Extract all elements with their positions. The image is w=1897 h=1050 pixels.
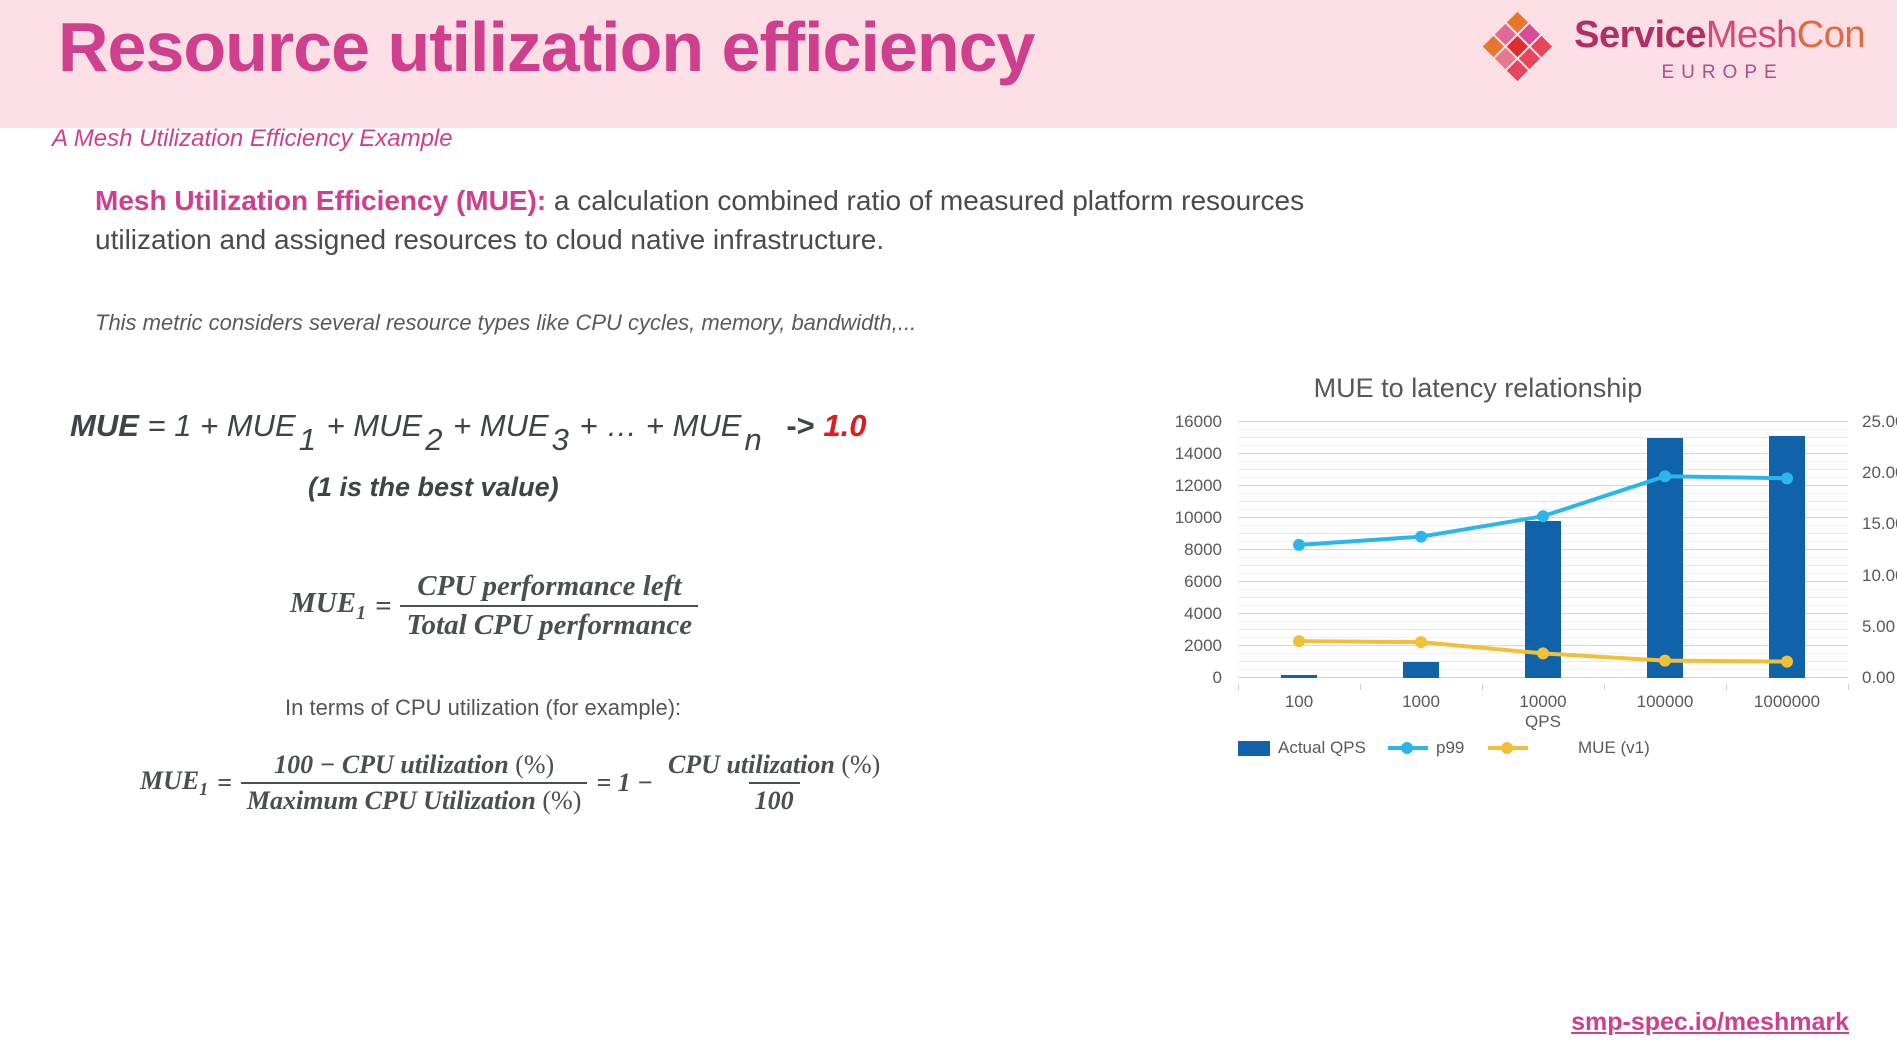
legend-line-swatch — [1388, 746, 1428, 750]
mue-sum-t4: + … + MUE — [580, 408, 742, 443]
slide-subtitle: A Mesh Utilization Efficiency Example — [52, 125, 453, 153]
mue-latency-chart: MUE to latency relationship 020004000600… — [1128, 366, 1888, 946]
f2-fraction-1: 100 − CPU utilization (%) Maximum CPU Ut… — [241, 750, 587, 816]
chart-legend-item[interactable]: MUE (v1) — [1488, 738, 1650, 758]
chart-legend-item[interactable]: p99 — [1388, 738, 1464, 758]
chart-x-tick: 1000000 — [1754, 692, 1820, 712]
mue-sum-eq: = 1 + MUE — [148, 408, 296, 443]
chart-y-axis-right: 0.005.0010.0015.0020.0025.00 — [1852, 422, 1897, 678]
chart-point[interactable] — [1781, 656, 1793, 668]
f2-numerator-1-unit: (%) — [515, 750, 554, 779]
chart-x-tick: 10000 — [1519, 692, 1566, 712]
chart-point[interactable] — [1537, 510, 1549, 522]
chart-x-tickmark — [1238, 684, 1239, 690]
logo-region: EUROPE — [1655, 62, 1783, 84]
chart-y-tick-right: 20.00 — [1862, 463, 1897, 483]
chart-y-tick-left: 8000 — [1184, 540, 1222, 560]
mesh-diamond-svg — [1474, 8, 1558, 92]
f1-lhs-sub: 1 — [356, 602, 366, 624]
f2-lhs-sub: 1 — [199, 779, 208, 799]
chart-y-tick-right: 25.00 — [1862, 412, 1897, 432]
f2-denominator-2: 100 — [749, 782, 800, 816]
chart-point[interactable] — [1415, 531, 1427, 543]
f2-numerator-2-unit: (%) — [841, 750, 880, 779]
chart-x-axis: 1001000100001000001000000 — [1238, 684, 1848, 714]
f2-lhs: MUE1 — [140, 766, 208, 800]
mue-sum-sub-1: 1 — [299, 422, 316, 458]
mue-sum-formula: MUE = 1 + MUE1 + MUE2 + MUE3 + … + MUEn … — [70, 408, 867, 444]
chart-y-tick-right: 15.00 — [1862, 514, 1897, 534]
mue-sum-sub-3: 3 — [552, 422, 569, 458]
chart-y-tick-left: 12000 — [1175, 476, 1222, 496]
chart-y-tick-left: 10000 — [1175, 508, 1222, 528]
chart-y-tick-left: 4000 — [1184, 604, 1222, 624]
chart-point[interactable] — [1659, 470, 1671, 482]
mue-sum-target: 1.0 — [823, 408, 866, 443]
definition-term: Mesh Utilization Efficiency (MUE): — [95, 185, 546, 216]
mue-sum-t2: + MUE — [327, 408, 423, 443]
meshmark-link[interactable]: smp-spec.io/meshmark — [1571, 1008, 1849, 1037]
chart-point[interactable] — [1293, 635, 1305, 647]
chart-point[interactable] — [1293, 539, 1305, 551]
chart-x-tick: 100 — [1285, 692, 1313, 712]
chart-point[interactable] — [1537, 647, 1549, 659]
legend-line-dot — [1501, 742, 1513, 754]
slide-header: Resource utilization efficiency ServiceM… — [0, 0, 1897, 128]
f2-numerator-2: CPU utilization (%) — [662, 750, 886, 782]
chart-line-layer — [1238, 422, 1848, 678]
chart-x-tickmark — [1604, 684, 1605, 690]
chart-plot-area — [1238, 422, 1848, 678]
mue-sum-sub-n: n — [744, 422, 761, 458]
chart-y-tick-left: 2000 — [1184, 636, 1222, 656]
chart-x-tickmark — [1726, 684, 1727, 690]
mue-sum-arrow: -> — [786, 408, 814, 443]
logo-wordmark: ServiceMeshCon — [1574, 16, 1865, 56]
f1-equals: = — [375, 590, 392, 623]
f2-denominator-1-unit: (%) — [542, 786, 581, 815]
legend-line-swatch — [1488, 746, 1528, 750]
metric-note: This metric considers several resource t… — [95, 310, 1095, 336]
f2-numerator-1: 100 − CPU utilization (%) — [268, 750, 560, 782]
chart-x-tick: 1000 — [1402, 692, 1440, 712]
legend-bar-swatch — [1238, 741, 1270, 756]
chart-point[interactable] — [1415, 636, 1427, 648]
chart-y-tick-right: 5.00 — [1862, 617, 1895, 637]
f2-equals-1: = — [217, 768, 232, 798]
logo-con: Con — [1797, 14, 1865, 56]
f2-denominator-1: Maximum CPU Utilization (%) — [241, 782, 587, 816]
chart-y-axis-left: 0200040006000800010000120001400016000 — [1128, 422, 1232, 678]
best-value-note: (1 is the best value) — [308, 472, 559, 503]
legend-line-dot — [1401, 742, 1413, 754]
chart-x-axis-label: QPS — [1238, 712, 1848, 732]
f2-fraction-2: CPU utilization (%) 100 — [662, 750, 886, 816]
f1-denominator: Total CPU performance — [400, 605, 698, 642]
mesh-diamond-icon — [1474, 8, 1558, 92]
page-title: Resource utilization efficiency — [58, 12, 1034, 82]
servicemeshcon-logo: ServiceMeshCon EUROPE — [1474, 8, 1865, 92]
chart-legend-item[interactable]: Actual QPS — [1238, 738, 1366, 758]
chart-legend-label: p99 — [1436, 738, 1464, 758]
cpu-utilization-note: In terms of CPU utilization (for example… — [285, 695, 681, 721]
logo-service: Service — [1574, 14, 1706, 56]
f1-lhs: MUE1 — [290, 587, 366, 625]
chart-point[interactable] — [1781, 472, 1793, 484]
chart-legend-label: Actual QPS — [1278, 738, 1366, 758]
chart-point[interactable] — [1659, 655, 1671, 667]
mue-sum-sub-2: 2 — [425, 422, 442, 458]
mue1-fraction-formula: MUE1 = CPU performance left Total CPU pe… — [290, 570, 698, 642]
f2-equals-2: = 1 − — [596, 768, 653, 798]
chart-y-tick-left: 16000 — [1175, 412, 1222, 432]
f1-fraction: CPU performance left Total CPU performan… — [400, 570, 698, 642]
chart-x-tickmark — [1360, 684, 1361, 690]
chart-title: MUE to latency relationship — [1128, 373, 1828, 404]
chart-y-tick-right: 10.00 — [1862, 566, 1897, 586]
mue1-cpu-formula: MUE1 = 100 − CPU utilization (%) Maximum… — [140, 750, 886, 816]
chart-x-tickmark — [1482, 684, 1483, 690]
chart-x-tick: 100000 — [1637, 692, 1694, 712]
logo-text: ServiceMeshCon EUROPE — [1574, 16, 1865, 84]
logo-mesh: Mesh — [1706, 14, 1797, 56]
chart-x-tickmark — [1848, 684, 1849, 690]
chart-legend-label: MUE (v1) — [1578, 738, 1650, 758]
chart-y-tick-left: 14000 — [1175, 444, 1222, 464]
mue-sum-t3: + MUE — [453, 408, 549, 443]
chart-y-tick-left: 0 — [1213, 668, 1222, 688]
f1-numerator: CPU performance left — [411, 570, 687, 605]
chart-y-tick-right: 0.00 — [1862, 668, 1895, 688]
definition-paragraph: Mesh Utilization Efficiency (MUE): a cal… — [95, 182, 1385, 259]
mue-sum-lhs: MUE — [70, 408, 139, 443]
chart-y-tick-left: 6000 — [1184, 572, 1222, 592]
